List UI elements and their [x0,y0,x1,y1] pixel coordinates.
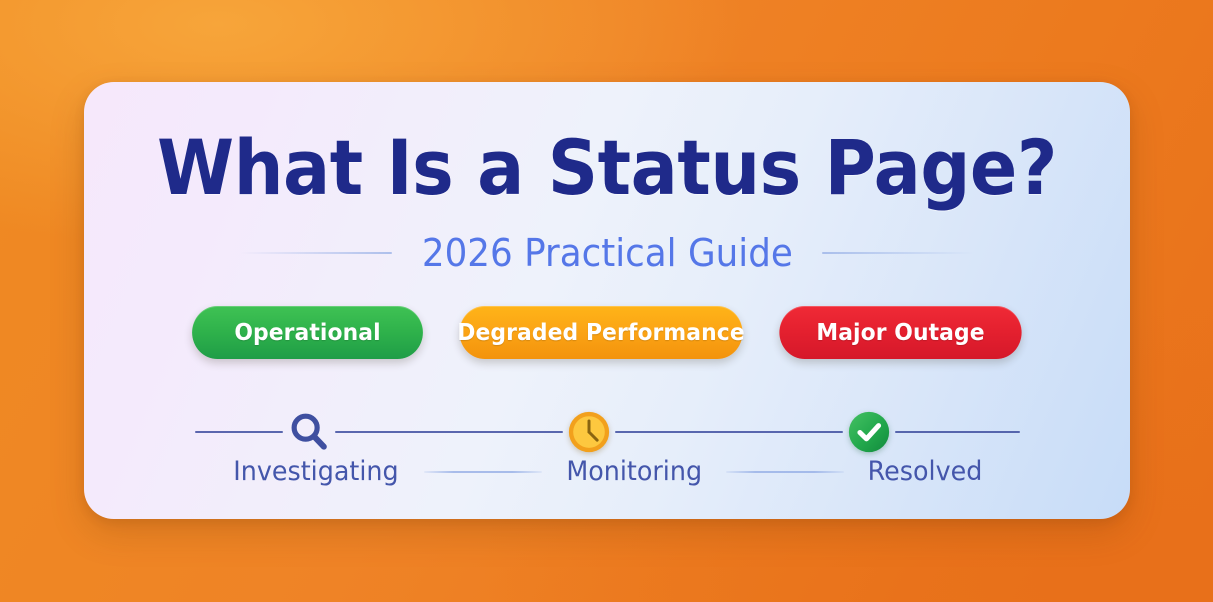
check-circle-icon [846,409,892,455]
status-badge-operational[interactable]: Operational [192,306,423,359]
timeline-connector-start [195,431,283,433]
magnifying-glass-icon [286,409,332,455]
timeline-connector-end [895,431,1020,433]
timeline-connector-2 [615,431,843,433]
subtitle-rule-left [240,252,392,254]
timeline-node-monitoring[interactable] [563,406,615,458]
timeline-labels: Investigating Monitoring Resolved [84,458,1130,485]
status-badge-major-outage[interactable]: Major Outage [779,306,1021,359]
timeline-node-investigating[interactable] [283,406,335,458]
clock-icon [566,409,612,455]
timeline-label-rule-1 [424,471,542,473]
incident-timeline: Investigating Monitoring Resolved [84,400,1130,510]
timeline-track [84,400,1130,464]
timeline-label-monitoring: Monitoring [566,458,702,485]
timeline-label-resolved: Resolved [868,458,983,485]
timeline-node-resolved[interactable] [843,406,895,458]
status-badge-group: Operational Degraded Performance Major O… [84,306,1130,359]
status-badge-degraded-performance[interactable]: Degraded Performance [459,306,742,359]
page-title: What Is a Status Page? [126,130,1088,206]
timeline-connector-1 [335,431,563,433]
page-subtitle: 2026 Practical Guide [421,234,792,272]
subtitle-row: 2026 Practical Guide [84,234,1130,272]
timeline-label-investigating: Investigating [233,458,398,485]
hero-card: What Is a Status Page? 2026 Practical Gu… [84,82,1130,519]
subtitle-rule-right [822,252,974,254]
timeline-label-rule-2 [726,471,844,473]
page-root: { "hero": { "title": "What Is a Status P… [0,0,1213,602]
